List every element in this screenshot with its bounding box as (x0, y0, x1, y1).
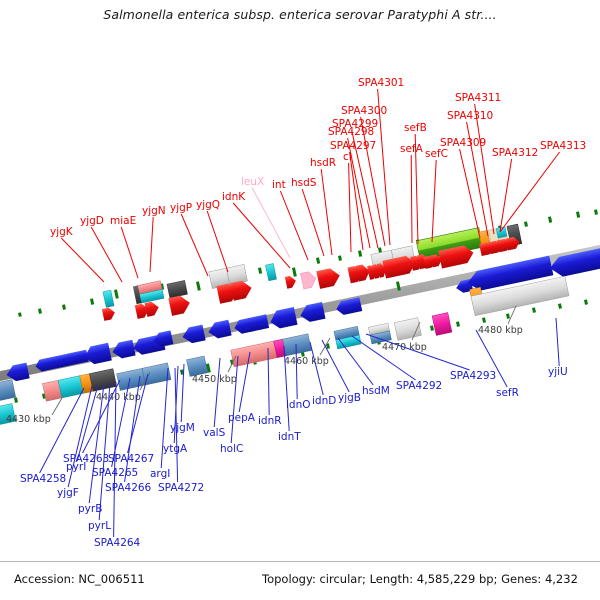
gene-label-text: SPA4292 (396, 380, 442, 392)
gene-label-text: yjgD (80, 215, 104, 227)
gene-label-idnD[interactable]: idnD (310, 342, 336, 407)
gene-label-hsdR[interactable]: hsdR (310, 157, 336, 255)
gene-label-text: pyrB (78, 503, 102, 515)
gene-label-text: leuX (241, 176, 264, 188)
gene-label-text: SPA4266 (105, 482, 152, 494)
gene-label-sefR[interactable]: sefR (476, 330, 519, 399)
gene-label-text: yjgP (170, 202, 192, 214)
gene-label-text: SPA4297 (330, 140, 376, 152)
gene-label-text: SPA4311 (455, 92, 501, 104)
gene-label-text: pyrL (88, 520, 111, 532)
gene-label-pyrB[interactable]: pyrB (78, 384, 104, 515)
gene-label-text: SPA4264 (94, 537, 141, 549)
genome-summary-label: Topology: circular; Length: 4,585,229 bp… (262, 572, 578, 586)
gene-label-text: sefC (425, 148, 448, 160)
gene-label-text: idnO (286, 399, 311, 411)
gene-label-text: int (272, 179, 286, 191)
gene-label-SPA4310[interactable]: SPA4310 (447, 110, 493, 236)
gene-label-text: hsdS (291, 177, 317, 189)
axis-tick-label: 4450 kbp (192, 374, 237, 385)
gene-label-text: SPA4312 (492, 147, 538, 159)
gene-label-text: SPA4299 (332, 118, 378, 130)
gene-label-text: ytgA (163, 443, 188, 455)
gene-label-text: SPA4267 (108, 453, 154, 465)
gene-label-text: yjiU (548, 366, 568, 378)
gene-label-text: valS (203, 427, 226, 439)
gene-label-text: SPA4272 (158, 482, 204, 494)
gene-label-text: hsdR (310, 157, 336, 169)
gene-label-yjgQ[interactable]: yjgQ (196, 199, 228, 272)
gene-label-text: sefR (496, 387, 519, 399)
gene-label-yjgN[interactable]: yjgN (142, 205, 166, 272)
gene-label-text: holC (220, 443, 243, 455)
gene-label-text: yjgN (142, 205, 166, 217)
gene-label-SPA4297[interactable]: SPA4297 (330, 140, 376, 250)
axis-tick-label: 4460 kbp (284, 356, 329, 367)
gene-label-text: SPA4310 (447, 110, 493, 122)
gene-label-text: SPA4263 (63, 453, 109, 465)
gene-label-text: SPA4258 (20, 473, 66, 485)
gene-label-text: yjgF (57, 487, 79, 499)
gene-label-text: SPA4313 (540, 140, 586, 152)
gene-label-text: sefB (404, 122, 427, 134)
gene-label-sefB[interactable]: sefB (404, 122, 427, 244)
gene-label-SPA4293[interactable]: SPA4293 (366, 334, 496, 382)
gene-label-holC[interactable]: holC (220, 356, 243, 455)
gene-label-text: hsdM (362, 385, 390, 397)
gene-label-text: argI (150, 468, 170, 480)
gene-label-text: yjgB (338, 392, 361, 404)
gene-label-text: yjgK (50, 226, 74, 238)
axis-tick-label: 4430 kbp (6, 414, 51, 425)
gene-label-text: SPA4293 (450, 370, 496, 382)
gene-label-text: SPA4301 (358, 77, 404, 89)
gene-label-text: yjgM (170, 422, 195, 434)
axis-tick-label: 4480 kbp (478, 325, 523, 336)
forward-gene-label-group: yjgKyjgDmiaEyjgNyjgPyjgQidnKleuXinthsdSh… (50, 77, 586, 282)
gene-label-hsdS[interactable]: hsdS (291, 177, 324, 256)
gene-label-text: SPA4265 (92, 467, 138, 479)
gene-label-text: SPA4300 (341, 105, 387, 117)
axis-tick: 4430 kbp (6, 398, 62, 425)
footer-divider (0, 561, 600, 562)
accession-label: Accession: NC_006511 (14, 572, 145, 586)
gene-label-text: pepA (228, 412, 256, 424)
gene-label-text: sefA (400, 143, 424, 155)
genome-viewer: Salmonella enterica subsp. enterica sero… (0, 0, 600, 600)
gene-label-yjiU[interactable]: yjiU (548, 318, 568, 378)
gene-label-SPA4301[interactable]: SPA4301 (358, 77, 404, 245)
genome-map-canvas[interactable]: 4430 kbp 4440 kbp 4450 kbp 4460 kbp 4470… (0, 0, 600, 560)
gene-label-text: miaE (110, 215, 136, 227)
gene-label-yjgP[interactable]: yjgP (170, 202, 208, 276)
gene-label-text: idnT (278, 431, 301, 443)
gene-label-sefC[interactable]: sefC (425, 148, 448, 242)
gene-label-idnK[interactable]: idnK (222, 191, 290, 268)
gene-label-sefA[interactable]: sefA (400, 143, 424, 243)
gene-label-text: idnK (222, 191, 246, 203)
gene-label-cI[interactable]: cI (343, 151, 352, 252)
gene-label-text: yjgQ (196, 199, 220, 211)
gene-label-text: idnR (258, 415, 282, 427)
gene-label-text: idnD (312, 395, 336, 407)
